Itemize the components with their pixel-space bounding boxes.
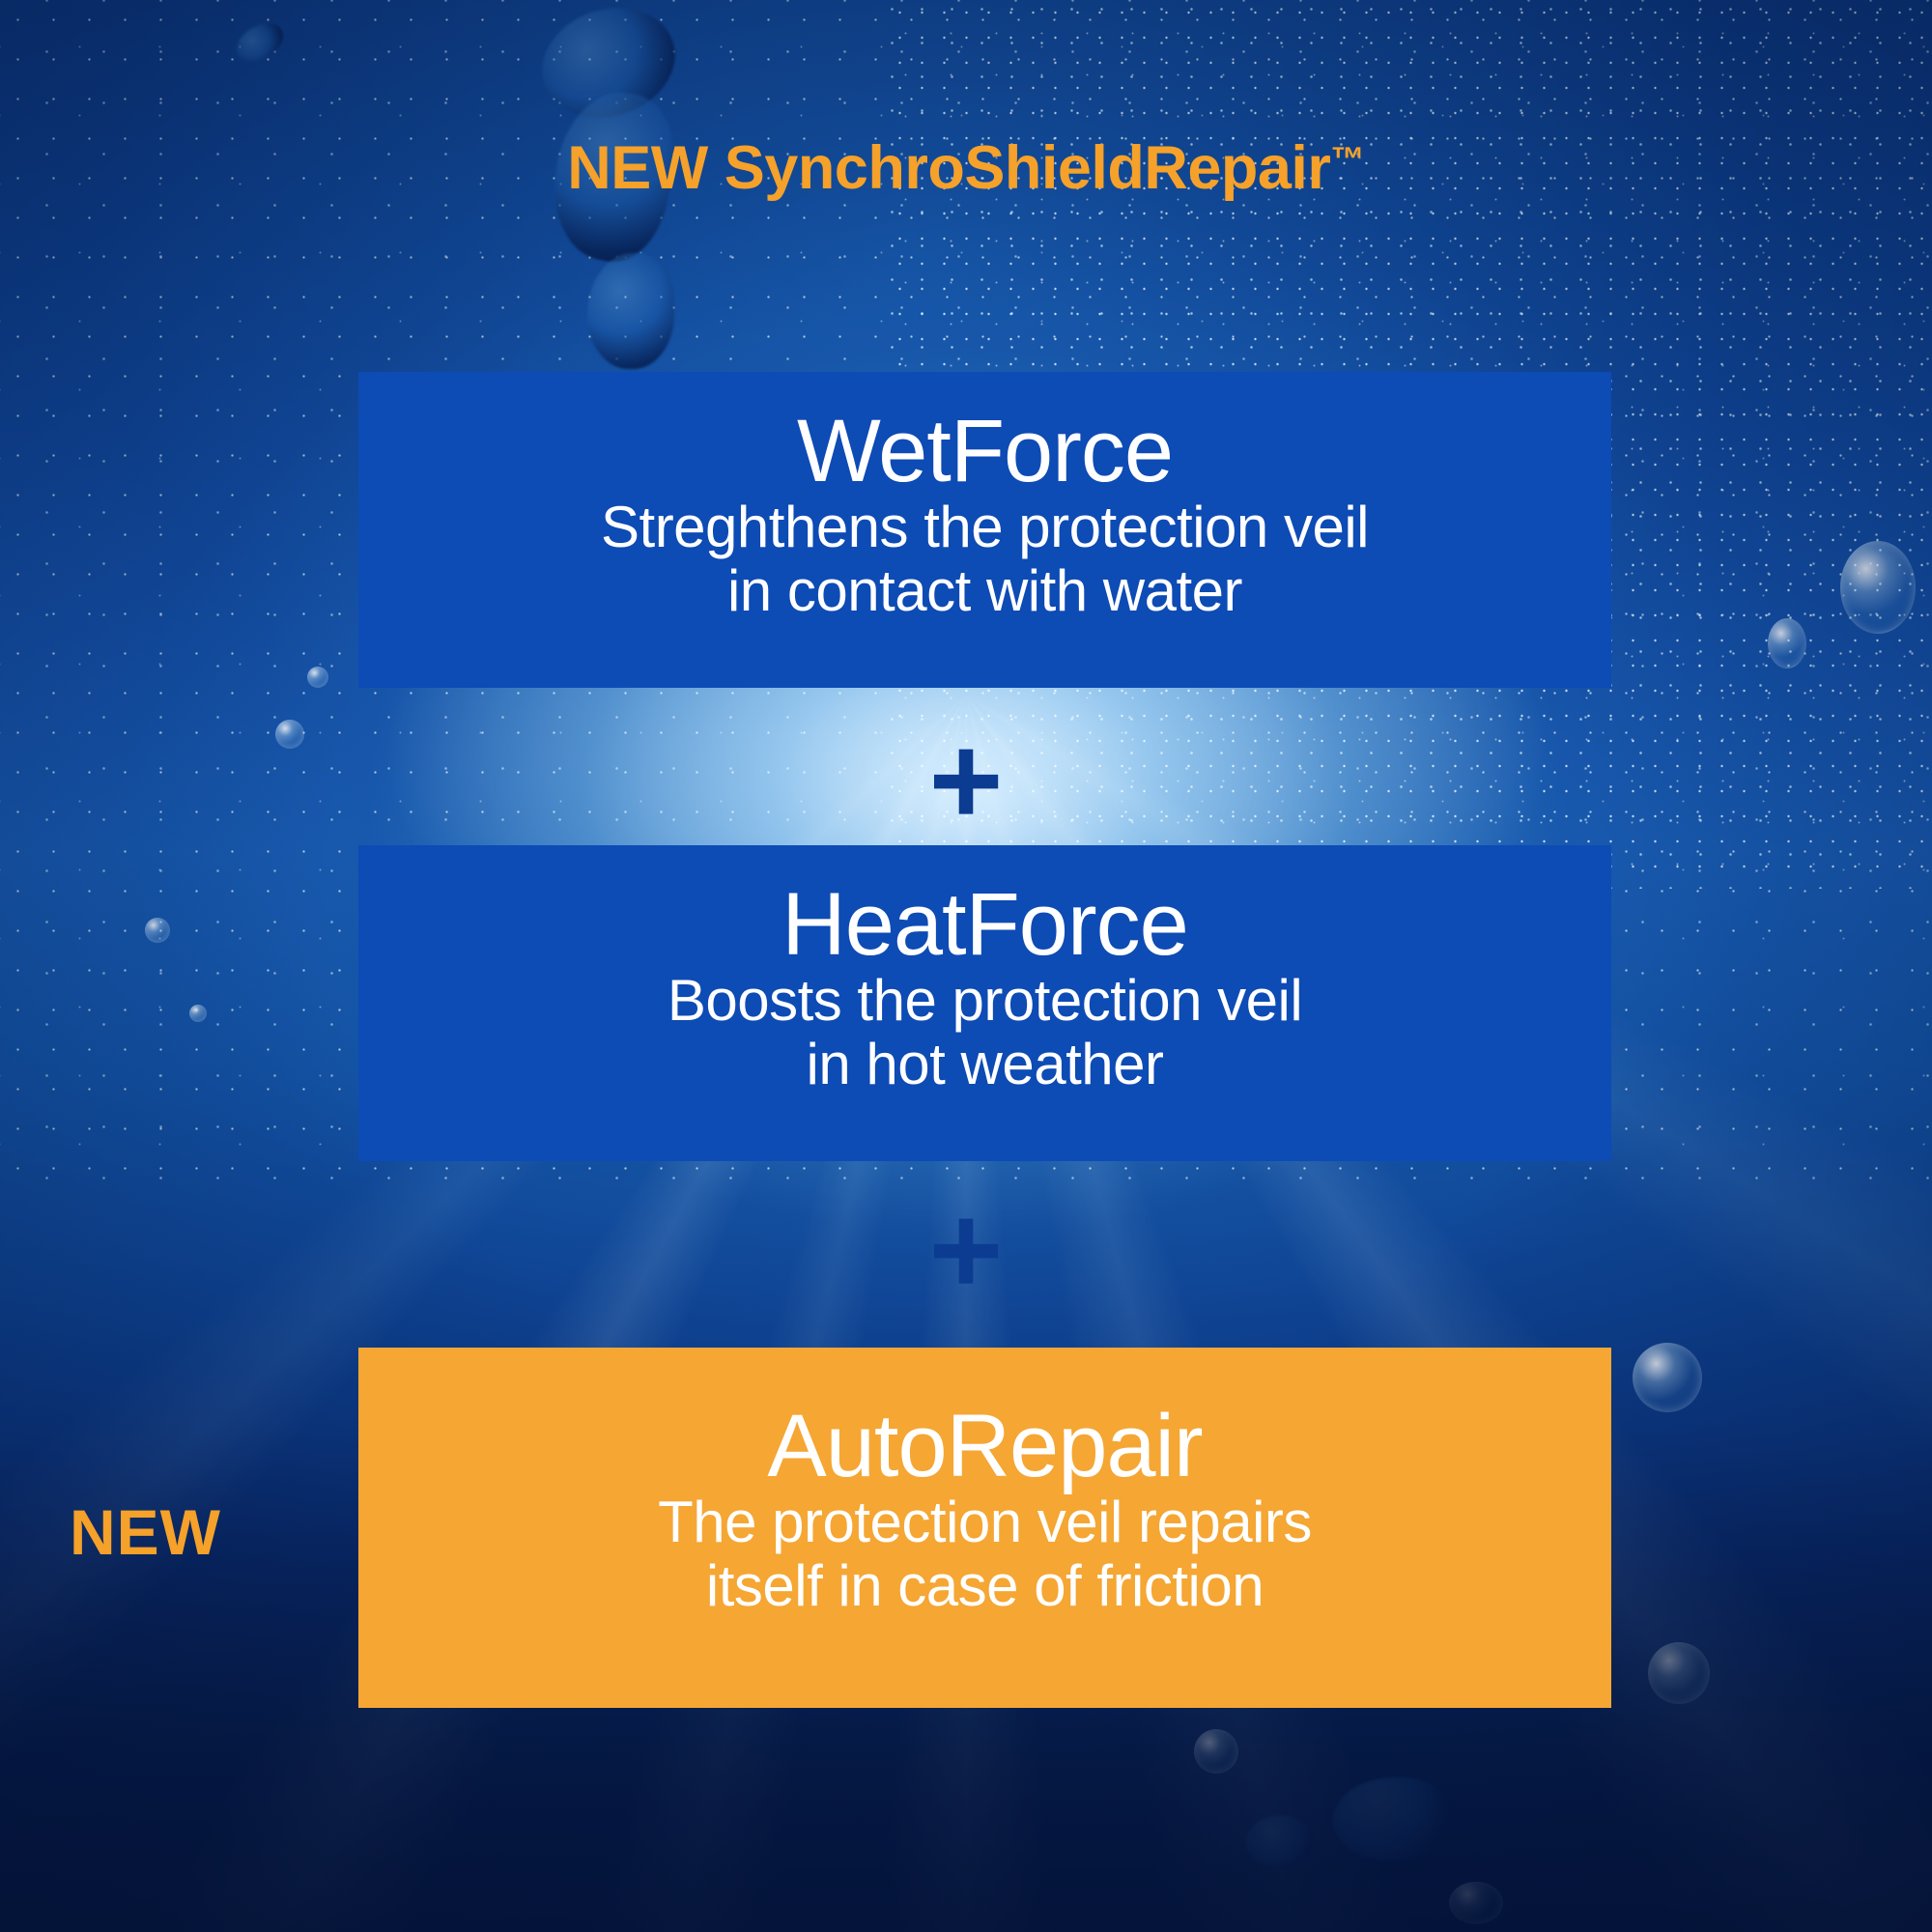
feature-card-title: WetForce (358, 407, 1611, 496)
trademark-symbol: ™ (1330, 141, 1364, 179)
feature-card-description-line2: itself in case of friction (358, 1554, 1611, 1618)
feature-card-description-line1: Streghthens the protection veil (358, 496, 1611, 559)
feature-card-heatforce[interactable]: HeatForce Boosts the protection veil in … (358, 845, 1611, 1161)
plus-icon: + (0, 1186, 1932, 1314)
plus-icon: + (0, 717, 1932, 844)
content-layer: NEW SynchroShieldRepair™ WetForce Stregh… (0, 0, 1932, 1932)
feature-card-description-line2: in contact with water (358, 559, 1611, 623)
feature-card-title: HeatForce (358, 880, 1611, 969)
feature-card-wetforce[interactable]: WetForce Streghthens the protection veil… (358, 372, 1611, 688)
feature-card-description-line2: in hot weather (358, 1033, 1611, 1096)
feature-card-description-line1: The protection veil repairs (358, 1491, 1611, 1554)
feature-card-title: AutoRepair (358, 1402, 1611, 1491)
page-title-text: NEW SynchroShieldRepair (567, 134, 1330, 202)
page-title: NEW SynchroShieldRepair™ (0, 133, 1932, 203)
infographic-stage: NEW SynchroShieldRepair™ WetForce Stregh… (0, 0, 1932, 1932)
feature-card-description-line1: Boosts the protection veil (358, 969, 1611, 1033)
feature-card-autorepair[interactable]: AutoRepair The protection veil repairs i… (358, 1348, 1611, 1708)
new-badge: NEW (70, 1495, 221, 1569)
